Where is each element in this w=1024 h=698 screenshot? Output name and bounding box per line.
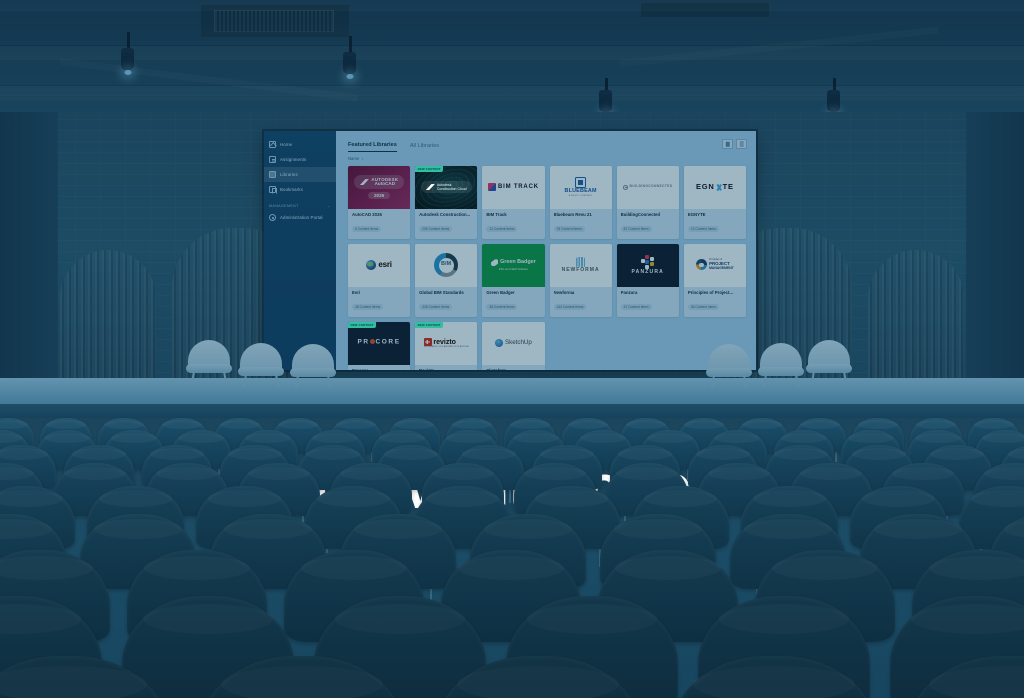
seat-highlight xyxy=(156,467,218,481)
seat-highlight xyxy=(974,420,1014,429)
gear-icon xyxy=(269,214,276,221)
new-content-badge: NEW CONTENT xyxy=(415,322,443,328)
seat-highlight xyxy=(245,433,291,443)
stage-chair xyxy=(758,343,804,385)
sort-label: Name xyxy=(348,156,359,161)
seat-highlight xyxy=(0,467,34,481)
seat-highlight xyxy=(317,490,391,506)
auditorium-scene: Home Assignments Libraries Bookmarks MAN… xyxy=(0,0,1024,698)
seat-highlight xyxy=(971,490,1024,506)
seat-highlight xyxy=(452,420,492,429)
sidebar-item-label: Administration Portal xyxy=(280,215,323,220)
library-card[interactable]: SketchUp SketchUp xyxy=(482,322,544,371)
seat-highlight xyxy=(0,604,81,634)
seat-highlight xyxy=(535,490,609,506)
track-light xyxy=(343,52,356,74)
seat-highlight xyxy=(111,433,157,443)
logo-text-part: PR xyxy=(357,339,369,346)
seat-highlight xyxy=(94,519,182,539)
card-artwork-panzura: PANZURA xyxy=(617,244,679,287)
card-count-badge: 38 Content Items xyxy=(486,304,517,310)
seat-highlight xyxy=(693,666,854,698)
card-count-badge: 428 Content Items xyxy=(419,304,452,310)
acoustic-panel-right-outer xyxy=(868,250,964,378)
logo-text-part: TE xyxy=(723,183,734,191)
logo-text: BUILDINGCONNECTED xyxy=(630,185,673,188)
seat-highlight xyxy=(336,420,376,429)
assignments-icon xyxy=(269,156,276,163)
card-artwork-bim-track: BIM TRACK xyxy=(482,166,544,209)
card-count-badge: 13 Content Items xyxy=(688,226,719,232)
projection-screen: Home Assignments Libraries Bookmarks MAN… xyxy=(264,131,756,370)
sidebar-item-administration-portal[interactable]: Administration Portal xyxy=(264,210,336,225)
seat-highlight xyxy=(301,556,407,580)
seat-highlight xyxy=(0,490,63,506)
library-card[interactable]: BIM Global BIM Standards 428 Content Ite… xyxy=(415,244,477,317)
sidebar-section-management[interactable]: MANAGEMENT ⌄ xyxy=(264,197,336,210)
seat-highlight xyxy=(647,433,693,443)
seat-highlight xyxy=(150,448,203,460)
card-artwork-green-badger: Green Badger ESG and LEED Software xyxy=(482,244,544,287)
seat-highlight xyxy=(510,420,550,429)
logo-subtext: A REVU COMPANY xyxy=(569,195,593,197)
panzura-logo-icon xyxy=(640,255,656,269)
card-artwork-buildingconnected: BUILDINGCONNECTED xyxy=(617,166,679,209)
sidebar-item-label: Libraries xyxy=(280,172,298,177)
buildingconnected-logo-icon xyxy=(623,185,628,190)
seat-highlight xyxy=(228,448,281,460)
seat-highlight xyxy=(708,467,770,481)
app-main-content: Featured Libraries All Libraries Name ↓ … xyxy=(336,131,756,370)
seat-highlight xyxy=(626,420,666,429)
seat-highlight xyxy=(484,519,572,539)
logo-product: AutoCAD xyxy=(371,182,398,187)
app-sidebar: Home Assignments Libraries Bookmarks MAN… xyxy=(264,131,336,370)
seat-highlight xyxy=(874,519,962,539)
sidebar-item-home[interactable]: Home xyxy=(264,137,336,152)
seat-highlight xyxy=(221,666,382,698)
chevron-down-icon: ⌄ xyxy=(327,203,331,208)
seat-highlight xyxy=(772,556,878,580)
seat-highlight xyxy=(306,448,359,460)
seat-highlight xyxy=(0,420,28,429)
library-card[interactable]: PANZURA Panzura 47 Content Items xyxy=(617,244,679,317)
library-card[interactable]: NEW CONTENT PRCORE Procore xyxy=(348,322,410,371)
seat-highlight xyxy=(46,420,86,429)
seat-highlight xyxy=(848,433,894,443)
logo-text: revizto xyxy=(433,339,456,346)
seat-highlight xyxy=(892,467,954,481)
bluebeam-logo-icon xyxy=(575,177,586,188)
newforma-logo-icon xyxy=(576,257,585,267)
seat-highlight xyxy=(580,433,626,443)
logo-product: Construction Cloud xyxy=(437,187,467,191)
seat-highlight xyxy=(394,420,434,429)
logo-text-part: CORE xyxy=(375,339,400,346)
acoustic-panel-left-outer xyxy=(60,250,156,378)
logo-line-3: MANAGEMENT xyxy=(709,267,734,271)
library-card[interactable]: NEW CONTENT revizto INTEGRATED COLLABORA… xyxy=(415,322,477,371)
card-artwork-principles-of-project-management: Principles of PROJECT MANAGEMENT xyxy=(684,244,746,287)
card-artwork-autocad: AUTODESK AutoCAD 2026 xyxy=(348,166,410,209)
esri-globe-icon xyxy=(366,260,376,270)
logo-text-part: EGN xyxy=(696,183,715,191)
libraries-icon xyxy=(269,171,276,178)
logo-text: BIM xyxy=(441,262,451,267)
seat-highlight xyxy=(384,448,437,460)
seat-highlight xyxy=(0,519,52,539)
seat-highlight xyxy=(458,556,564,580)
seat-highlight xyxy=(742,420,782,429)
list-view-button[interactable] xyxy=(736,139,747,149)
seat-highlight xyxy=(862,490,936,506)
tab-all-libraries[interactable]: All Libraries xyxy=(410,143,439,152)
new-content-badge: NEW CONTENT xyxy=(415,166,443,172)
seat-highlight xyxy=(335,604,466,634)
wall-column-right xyxy=(966,112,1024,412)
card-title: BIM Track xyxy=(486,212,540,217)
seat-highlight xyxy=(278,420,318,429)
seat-highlight xyxy=(852,448,905,460)
stage-chair xyxy=(290,344,336,386)
seat-highlight xyxy=(930,448,983,460)
home-icon xyxy=(269,141,276,148)
sketchup-logo-icon xyxy=(495,339,503,347)
card-count-badge: 47 Content Items xyxy=(621,304,652,310)
seat-highlight xyxy=(64,467,126,481)
library-tabs: Featured Libraries All Libraries xyxy=(348,142,746,152)
seat-highlight xyxy=(379,433,425,443)
card-title: BuildingConnected xyxy=(621,212,675,217)
seat-highlight xyxy=(929,556,1024,580)
library-card[interactable]: NEWFORMA Newforma 144 Content Items xyxy=(550,244,612,317)
seat-highlight xyxy=(858,420,898,429)
card-count-badge: 144 Content Items xyxy=(554,304,587,310)
seat-highlight xyxy=(457,666,618,698)
card-count-badge: 48 Content Items xyxy=(352,304,383,310)
seat-highlight xyxy=(719,604,850,634)
seat-highlight xyxy=(524,467,586,481)
seat-highlight xyxy=(1008,448,1024,460)
card-artwork-newforma: NEWFORMA xyxy=(550,244,612,287)
logo-text: NEWFORMA xyxy=(562,268,600,273)
seat-highlight xyxy=(774,448,827,460)
global-bim-logo-icon: BIM xyxy=(434,253,458,277)
seat-highlight xyxy=(0,666,147,698)
seat-highlight xyxy=(0,448,48,460)
card-artwork-global-bim-standards: BIM xyxy=(415,244,477,287)
card-count-badge: 78 Content Items xyxy=(554,226,585,232)
card-title: EGNYTE xyxy=(688,212,742,217)
stage-chair xyxy=(238,343,284,385)
seat-highlight xyxy=(618,448,671,460)
card-count-badge: 36 Content Items xyxy=(688,304,719,310)
logo-text: SketchUp xyxy=(505,340,532,346)
seat-highlight xyxy=(615,556,721,580)
card-title: Bluebeam Revu 21 xyxy=(554,212,608,217)
seat-highlight xyxy=(446,433,492,443)
egnyte-star-icon xyxy=(715,184,722,191)
green-badger-leaf-icon xyxy=(491,259,498,266)
stage-chair xyxy=(806,340,852,382)
seat-highlight xyxy=(982,433,1024,443)
stage-chair xyxy=(186,340,232,382)
library-card[interactable]: BUILDINGCONNECTED BuildingConnected 87 C… xyxy=(617,166,679,239)
ppm-logo-icon xyxy=(696,259,707,270)
card-title: Newforma xyxy=(554,290,608,295)
library-card[interactable]: NEW CONTENT Autodesk Construction Cloud … xyxy=(415,166,477,239)
library-card[interactable]: EGN TE EGNYTE 13 Content Items xyxy=(684,166,746,239)
wall-column-left xyxy=(0,112,58,412)
seat-highlight xyxy=(224,519,312,539)
card-artwork-esri: esri xyxy=(348,244,410,287)
sidebar-item-label: Assignments xyxy=(280,157,306,162)
seat-highlight xyxy=(800,467,862,481)
card-count-badge: 87 Content Items xyxy=(621,226,652,232)
track-light xyxy=(827,90,840,112)
card-title: Procore xyxy=(352,368,406,371)
bookmarks-icon xyxy=(269,186,276,193)
card-title: Panzura xyxy=(621,290,675,295)
sidebar-item-label: Bookmarks xyxy=(280,187,303,192)
seat-highlight xyxy=(99,490,173,506)
seat-highlight xyxy=(781,433,827,443)
logo-text: PANZURA xyxy=(632,270,664,275)
seat-highlight xyxy=(916,420,956,429)
card-title: Autodesk Construction... xyxy=(419,212,473,217)
seat-highlight xyxy=(354,519,442,539)
seat-highlight xyxy=(0,433,23,443)
seat-highlight xyxy=(248,467,310,481)
logo-subtext: INTEGRATED COLLABORATION PLATFORM xyxy=(424,346,469,348)
logo-year: 2026 xyxy=(368,192,390,199)
logo-subtext: ESG and LEED Software xyxy=(499,268,528,271)
seat-highlight xyxy=(426,490,500,506)
track-light xyxy=(599,90,612,112)
seat-highlight xyxy=(714,433,760,443)
card-artwork-bluebeam: BLUEBEAM A REVU COMPANY xyxy=(550,166,612,209)
new-content-badge: NEW CONTENT xyxy=(348,322,376,328)
seat-highlight xyxy=(513,433,559,443)
autodesk-swoosh-icon xyxy=(360,179,369,185)
card-artwork-sketchup: SketchUp xyxy=(482,322,544,365)
card-artwork-revizto: NEW CONTENT revizto INTEGRATED COLLABORA… xyxy=(415,322,477,365)
seat-highlight xyxy=(220,420,260,429)
track-light xyxy=(121,48,134,70)
seat-highlight xyxy=(312,433,358,443)
seat-highlight xyxy=(915,433,961,443)
sidebar-item-bookmarks[interactable]: Bookmarks xyxy=(264,182,336,197)
seat-highlight xyxy=(432,467,494,481)
sidebar-item-label: Home xyxy=(280,142,292,147)
logo-text: BLUEBEAM xyxy=(565,189,597,194)
seat-highlight xyxy=(644,490,718,506)
library-card[interactable]: Principles of PROJECT MANAGEMENT Princip… xyxy=(684,244,746,317)
view-toggle-group xyxy=(722,139,747,149)
card-count-badge: 12 Content Items xyxy=(486,226,517,232)
bim-track-logo-icon xyxy=(488,183,496,191)
tab-featured-libraries[interactable]: Featured Libraries xyxy=(348,142,397,152)
card-title: SketchUp xyxy=(486,368,540,371)
sort-control[interactable]: Name ↓ xyxy=(348,156,746,161)
card-artwork-autodesk-construction-cloud: NEW CONTENT Autodesk Construction Cloud xyxy=(415,166,477,209)
card-count-badge: 6 Content Items xyxy=(352,226,381,232)
card-title: Green Badger xyxy=(486,290,540,295)
seat-highlight xyxy=(162,420,202,429)
sidebar-item-libraries[interactable]: Libraries xyxy=(264,167,336,182)
seat-highlight xyxy=(800,420,840,429)
seat-highlight xyxy=(696,448,749,460)
logo-text: BIM TRACK xyxy=(498,184,539,190)
seat-highlight xyxy=(911,604,1024,634)
library-card[interactable]: BIM TRACK BIM Track 12 Content Items xyxy=(482,166,544,239)
library-card[interactable]: BLUEBEAM A REVU COMPANY Bluebeam Revu 21… xyxy=(550,166,612,239)
seat-highlight xyxy=(568,420,608,429)
autodesk-swoosh-icon xyxy=(426,184,435,190)
library-card[interactable]: AUTODESK AutoCAD 2026 AutoCAD 2026 6 Con… xyxy=(348,166,410,239)
card-title: Principles of Project... xyxy=(688,290,742,295)
stage-chair xyxy=(706,344,752,386)
library-card-grid: AUTODESK AutoCAD 2026 AutoCAD 2026 6 Con… xyxy=(348,166,746,371)
sort-arrow-icon: ↓ xyxy=(362,156,364,161)
seat-highlight xyxy=(540,448,593,460)
sidebar-item-assignments[interactable]: Assignments xyxy=(264,152,336,167)
seat-highlight xyxy=(0,556,93,580)
seat-highlight xyxy=(143,604,274,634)
seat-highlight xyxy=(462,448,515,460)
seat-highlight xyxy=(178,433,224,443)
seat-highlight xyxy=(72,448,125,460)
seat-highlight xyxy=(744,519,832,539)
seat-highlight xyxy=(208,490,282,506)
seat-highlight xyxy=(104,420,144,429)
card-count-badge: 206 Content Items xyxy=(419,226,452,232)
card-title: Esri xyxy=(352,290,406,295)
grid-view-button[interactable] xyxy=(722,139,733,149)
logo-text: esri xyxy=(378,261,391,269)
card-title: AutoCAD 2026 xyxy=(352,212,406,217)
card-title: Revizto xyxy=(419,368,473,371)
card-title: Global BIM Standards xyxy=(419,290,473,295)
seat-highlight xyxy=(616,467,678,481)
library-card[interactable]: esri Esri 48 Content Items xyxy=(348,244,410,317)
sidebar-section-label: MANAGEMENT xyxy=(269,204,299,208)
seat-highlight xyxy=(527,604,658,634)
seat-highlight xyxy=(684,420,724,429)
seat-highlight xyxy=(984,467,1024,481)
card-artwork-egnyte: EGN TE xyxy=(684,166,746,209)
seat-highlight xyxy=(44,433,90,443)
seat-highlight xyxy=(340,467,402,481)
logo-text: Green Badger xyxy=(500,260,536,265)
seat-highlight xyxy=(753,490,827,506)
ceiling xyxy=(0,0,1024,118)
seat-highlight xyxy=(614,519,702,539)
library-card[interactable]: Green Badger ESG and LEED Software Green… xyxy=(482,244,544,317)
revizto-logo-icon xyxy=(424,338,432,346)
seat-highlight xyxy=(144,556,250,580)
card-artwork-procore: NEW CONTENT PRCORE xyxy=(348,322,410,365)
